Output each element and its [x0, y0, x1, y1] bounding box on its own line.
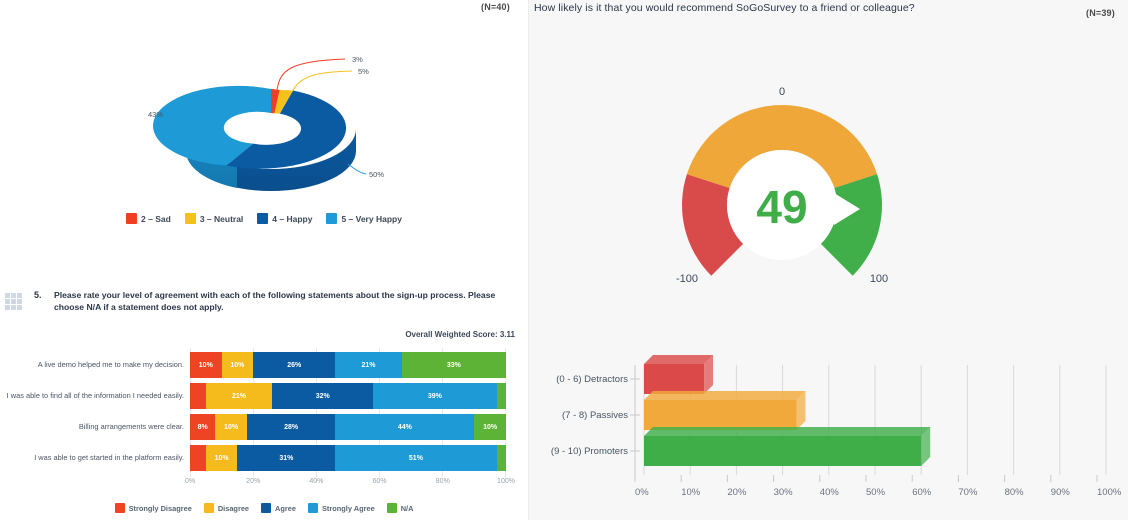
stacked-legend-label: Strongly Agree	[322, 504, 375, 513]
nps-bar-xtick: 10%	[681, 487, 701, 498]
legend-label-sad: 2 – Sad	[141, 214, 171, 224]
stacked-bar-segment-strongly-agree[interactable]: 39%	[373, 383, 496, 409]
stacked-bar-xtick: 40%	[309, 478, 323, 485]
donut-label-3pct: 3%	[352, 55, 363, 64]
stacked-legend-label: Strongly Disagree	[129, 504, 192, 513]
nps-bar--detractors[interactable]	[644, 355, 713, 394]
bar-front-face	[644, 364, 704, 394]
stacked-bar-segment-strongly-disagree[interactable]: 10%	[190, 352, 222, 378]
stacked-bar-row-label: I was able to get started in the platfor…	[0, 453, 190, 463]
respondent-count-nps: (N=39)	[1086, 8, 1115, 18]
nps-bar-category-labels: (0 - 6) Detractors(7 - 8) Passives(9 - 1…	[551, 374, 640, 457]
stacked-bar-segment-agree[interactable]: 26%	[253, 352, 335, 378]
stacked-bar-row[interactable]: I was able to get started in the platfor…	[0, 445, 528, 471]
stacked-bar-xaxis: 0%20%40%60%80%100%	[190, 478, 506, 492]
stacked-bar-track: 8%10%28%44%10%	[190, 414, 506, 440]
nps-bar-xtick: 20%	[727, 487, 747, 498]
nps-gauge-chart[interactable]: 49 0 -100 100	[529, 30, 1128, 295]
bar-front-face	[644, 436, 921, 466]
nps-bar-xtick: 60%	[912, 487, 932, 498]
stacked-bar-xtick: 100%	[497, 478, 515, 485]
stacked-legend-swatch	[387, 503, 397, 513]
question-number: 5.	[34, 290, 42, 300]
stacked-bar-segment-n-a[interactable]: 33%	[402, 352, 506, 378]
stacked-legend-swatch	[308, 503, 318, 513]
stacked-legend-item-strongly-agree[interactable]: Strongly Agree	[308, 503, 375, 513]
stacked-bar-segment-strongly-disagree[interactable]	[190, 383, 206, 409]
stacked-bar-segment-n-a[interactable]: 10%	[474, 414, 506, 440]
stacked-bar-segment-strongly-agree[interactable]: 44%	[335, 414, 474, 440]
question-text: Please rate your level of agreement with…	[54, 290, 504, 314]
respondent-count-donut: (N=40)	[481, 2, 510, 12]
agreement-stacked-bar-chart[interactable]: A live demo helped me to make my decisio…	[0, 352, 528, 482]
bar-front-face	[644, 400, 796, 430]
legend-swatch-very-happy	[326, 213, 337, 224]
donut-label-5pct: 5%	[358, 67, 369, 76]
donut-label-43pct: 43%	[148, 110, 163, 119]
legend-swatch-neutral	[185, 213, 196, 224]
report-page: (N=40)	[0, 0, 1128, 520]
nps-bar-category-label: (7 - 8) Passives	[562, 410, 628, 421]
bar-top-face	[644, 391, 805, 400]
gauge-label-zero: 0	[779, 86, 785, 98]
nps-bar-series	[644, 355, 930, 466]
nps-bar-xtick: 50%	[866, 487, 886, 498]
bar-top-face	[644, 355, 713, 364]
stacked-bar-segment-strongly-agree[interactable]: 51%	[335, 445, 496, 471]
stacked-bar-segment-strongly-disagree[interactable]: 8%	[190, 414, 215, 440]
nps-bar--promoters[interactable]	[644, 427, 930, 466]
donut-label-50pct: 50%	[369, 170, 384, 179]
nps-question-title: How likely is it that you would recommen…	[534, 2, 915, 14]
stacked-bar-track: 21%32%39%	[190, 383, 506, 409]
stacked-bar-row-label: I was able to find all of the informatio…	[0, 391, 190, 401]
donut-legend: 2 – Sad 3 – Neutral 4 – Happy 5 – Very H…	[0, 213, 528, 224]
legend-item-happy[interactable]: 4 – Happy	[257, 213, 312, 224]
left-panel: (N=40)	[0, 0, 529, 520]
nps-bar-xtick: 90%	[1051, 487, 1071, 498]
nps-bar-xtick: 0%	[635, 487, 649, 498]
legend-item-very-happy[interactable]: 5 – Very Happy	[326, 213, 401, 224]
nps-bar-category-label: (9 - 10) Promoters	[551, 446, 628, 457]
gauge-value: 49	[756, 181, 807, 233]
stacked-legend-item-strongly-disagree[interactable]: Strongly Disagree	[115, 503, 192, 513]
nps-bar-xtick: 80%	[1005, 487, 1025, 498]
stacked-legend-item-n-a[interactable]: N/A	[387, 503, 414, 513]
nps-breakdown-bar-chart[interactable]: (0 - 6) Detractors(7 - 8) Passives(9 - 1…	[529, 330, 1128, 520]
stacked-bar-segment-n-a[interactable]	[497, 383, 506, 409]
nps-bar-xtick: 100%	[1097, 487, 1122, 498]
grid-drag-icon[interactable]	[5, 293, 22, 310]
leader-line-sad	[277, 59, 345, 90]
stacked-bar-xtick: 60%	[373, 478, 387, 485]
stacked-bar-segment-strongly-disagree[interactable]	[190, 445, 206, 471]
stacked-bar-rows: A live demo helped me to make my decisio…	[0, 352, 528, 476]
stacked-legend-item-agree[interactable]: Agree	[261, 503, 296, 513]
nps-bar-xtick: 40%	[820, 487, 840, 498]
stacked-bar-xtick: 80%	[436, 478, 450, 485]
nps-bar-xtick: 70%	[958, 487, 978, 498]
stacked-bar-segment-disagree[interactable]: 10%	[206, 445, 238, 471]
legend-swatch-sad	[126, 213, 137, 224]
legend-label-happy: 4 – Happy	[272, 214, 312, 224]
stacked-bar-track: 10%10%26%21%33%	[190, 352, 506, 378]
nps-bar-xaxis: 0%10%20%30%40%50%60%70%80%90%100%	[635, 487, 1122, 498]
stacked-bar-xtick: 0%	[185, 478, 195, 485]
legend-label-neutral: 3 – Neutral	[200, 214, 243, 224]
stacked-legend-label: Disagree	[218, 504, 249, 513]
legend-item-sad[interactable]: 2 – Sad	[126, 213, 171, 224]
donut-svg: 3% 5% 43% 50%	[0, 14, 528, 214]
stacked-bar-row[interactable]: Billing arrangements were clear.8%10%28%…	[0, 414, 528, 440]
stacked-legend-item-disagree[interactable]: Disagree	[204, 503, 249, 513]
nps-bar-svg: (0 - 6) Detractors(7 - 8) Passives(9 - 1…	[529, 330, 1128, 520]
stacked-legend-label: N/A	[401, 504, 414, 513]
nps-gauge-svg: 49 0 -100 100	[529, 30, 1128, 295]
stacked-bar-segment-disagree[interactable]: 10%	[222, 352, 254, 378]
stacked-bar-row[interactable]: A live demo helped me to make my decisio…	[0, 352, 528, 378]
satisfaction-donut-chart[interactable]: 3% 5% 43% 50%	[0, 14, 528, 214]
nps-bar-category-label: (0 - 6) Detractors	[556, 374, 628, 385]
stacked-bar-segment-agree[interactable]: 28%	[247, 414, 335, 440]
nps-bar-xtick: 30%	[774, 487, 794, 498]
stacked-bar-xtick: 20%	[246, 478, 260, 485]
leader-line-happy	[348, 164, 366, 174]
stacked-legend-swatch	[115, 503, 125, 513]
gauge-label-min: -100	[676, 273, 698, 285]
stacked-bar-segment-agree[interactable]: 31%	[237, 445, 335, 471]
stacked-bar-segment-agree[interactable]: 32%	[272, 383, 373, 409]
stacked-bar-segment-n-a[interactable]	[497, 445, 506, 471]
legend-swatch-happy	[257, 213, 268, 224]
gauge-label-max: 100	[870, 273, 888, 285]
stacked-bar-track: 10%31%51%	[190, 445, 506, 471]
stacked-bar-row[interactable]: I was able to find all of the informatio…	[0, 383, 528, 409]
stacked-legend-swatch	[204, 503, 214, 513]
stacked-bar-segment-disagree[interactable]: 10%	[215, 414, 247, 440]
legend-item-neutral[interactable]: 3 – Neutral	[185, 213, 243, 224]
stacked-bar-segment-disagree[interactable]: 21%	[206, 383, 272, 409]
nps-bar--passives[interactable]	[644, 391, 805, 430]
leader-line-neutral	[292, 71, 352, 92]
right-panel: How likely is it that you would recommen…	[529, 0, 1128, 520]
stacked-bar-legend: Strongly DisagreeDisagreeAgreeStrongly A…	[0, 503, 528, 513]
overall-weighted-score: Overall Weighted Score: 3.11	[0, 330, 515, 339]
stacked-legend-label: Agree	[275, 504, 296, 513]
bar-top-face	[644, 427, 930, 436]
legend-label-very-happy: 5 – Very Happy	[341, 214, 401, 224]
stacked-bar-segment-strongly-agree[interactable]: 21%	[335, 352, 401, 378]
stacked-bar-row-label: Billing arrangements were clear.	[0, 422, 190, 432]
stacked-bar-row-label: A live demo helped me to make my decisio…	[0, 360, 190, 370]
stacked-legend-swatch	[261, 503, 271, 513]
